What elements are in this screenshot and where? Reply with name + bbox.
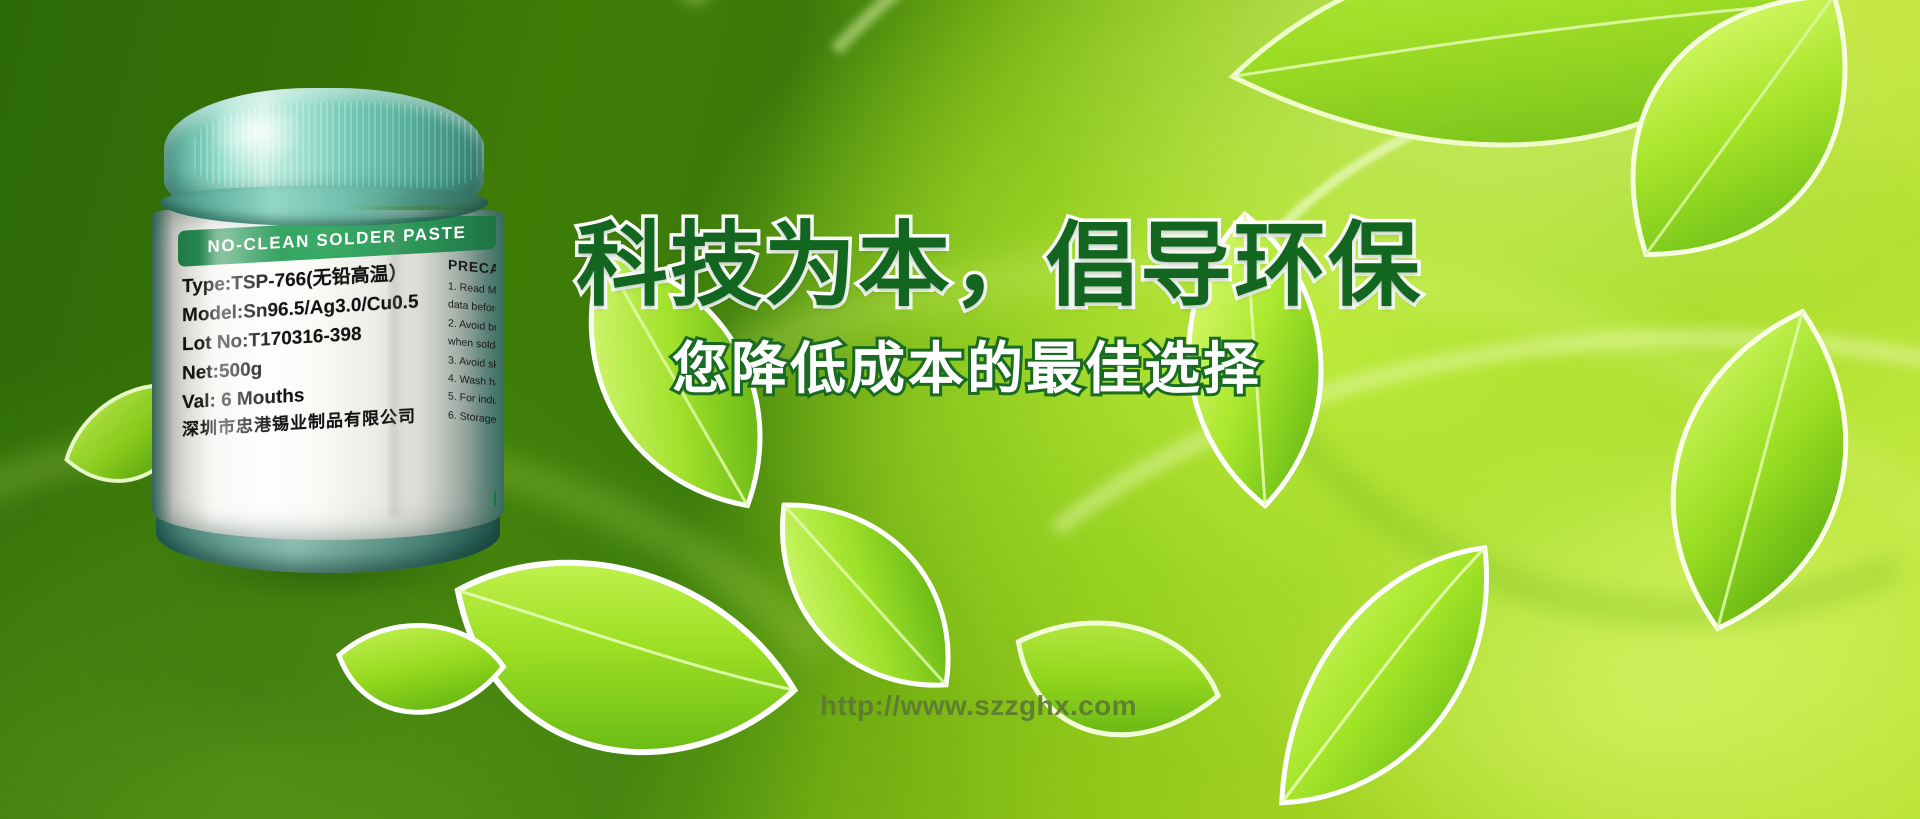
leaf-icon-bottom-center	[968, 558, 1241, 819]
jar-crease	[390, 218, 406, 518]
promo-banner: NO-CLEAN SOLDER PASTE Type:TSP-766(无铅高温）…	[0, 0, 1920, 819]
precaution-line-6: 6. Storage Temp	[448, 406, 496, 436]
banner-subheadline: 您降低成本的最佳选择	[672, 338, 1372, 400]
banner-headline: 科技为本，倡导环保	[576, 212, 1356, 320]
product-jar: NO-CLEAN SOLDER PASTE Type:TSP-766(无铅高温）…	[150, 88, 510, 588]
label-precaution-block: PRECAUTION 1. Read MSDS data before 2. A…	[448, 256, 496, 436]
rohs-badge: RoHS	[494, 489, 496, 506]
jar-lid-highlight	[208, 96, 304, 170]
jar-highlight	[210, 218, 280, 518]
website-url: http://www.szzghx.com	[820, 690, 1137, 722]
